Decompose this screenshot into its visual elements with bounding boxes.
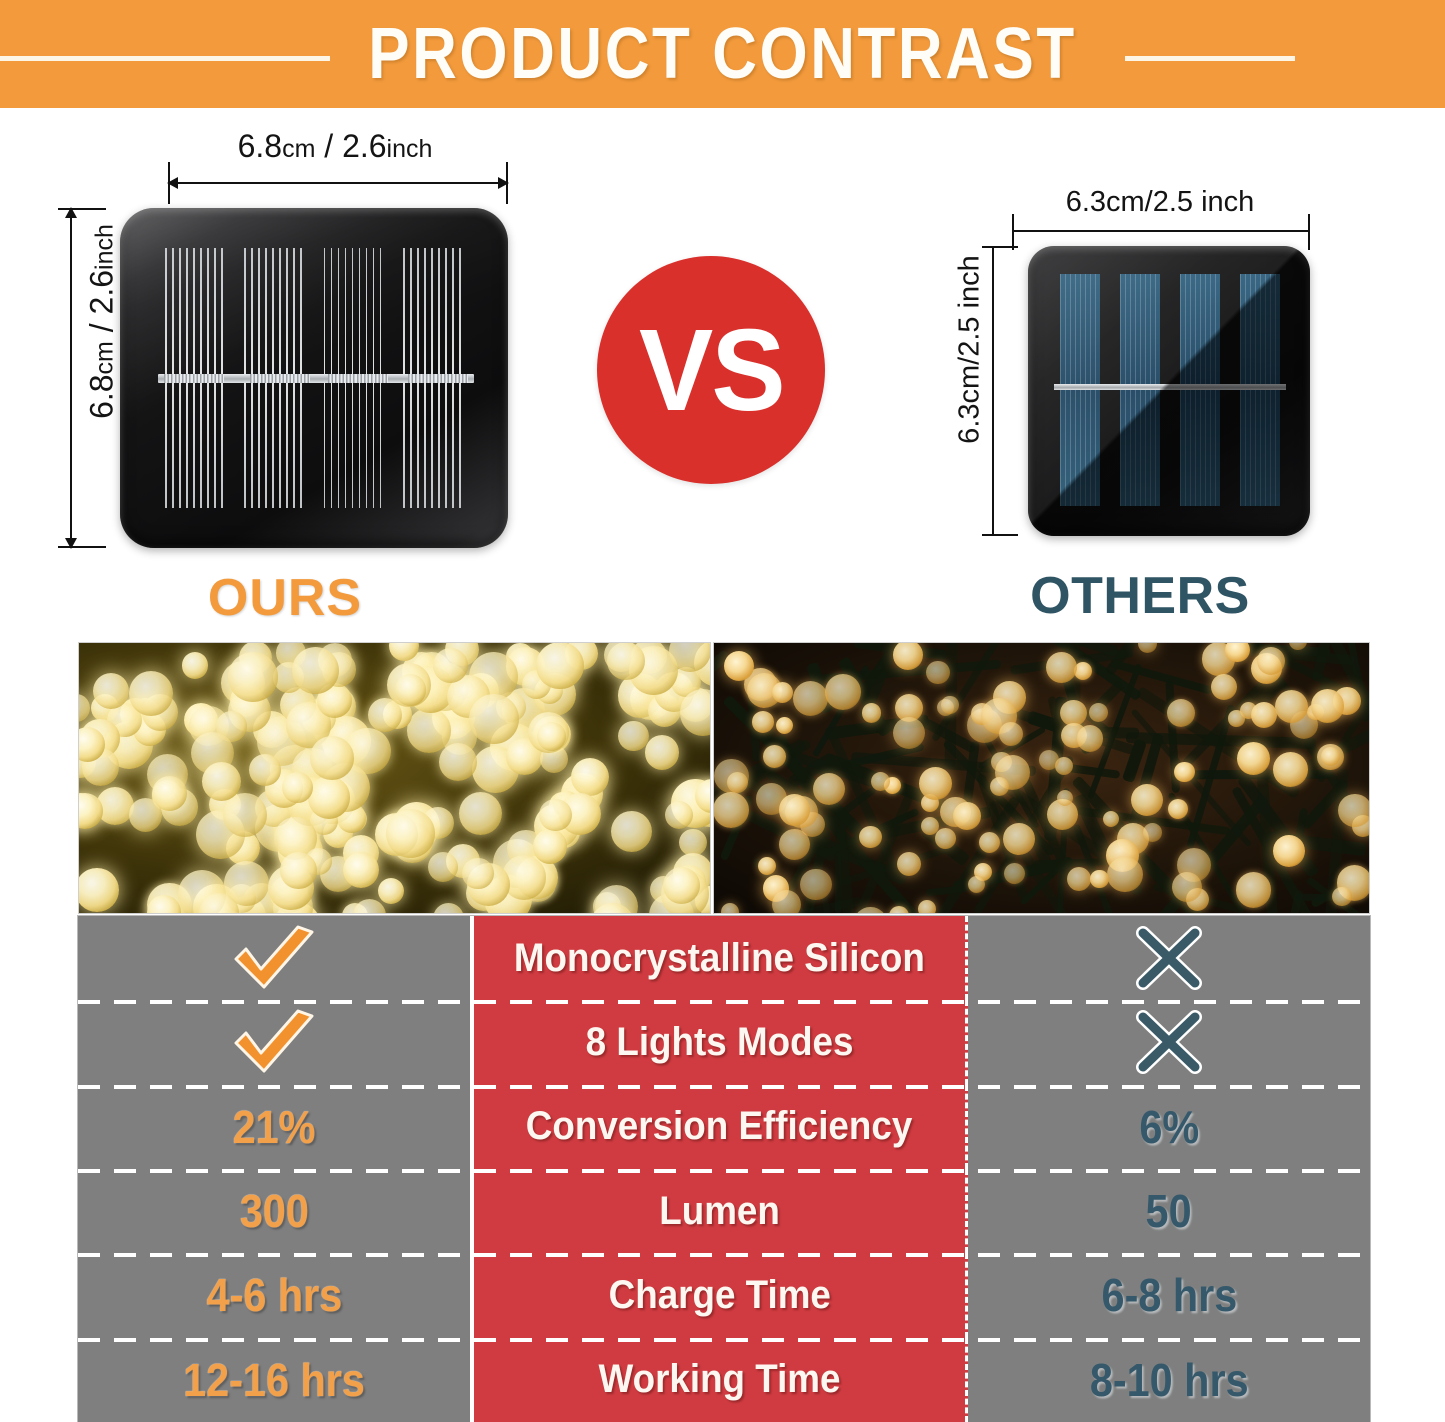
led-bulb	[539, 799, 572, 832]
led-bulb	[378, 878, 404, 904]
check-icon	[228, 1007, 320, 1077]
feature-name-cell: Conversion Efficiency	[470, 1085, 968, 1169]
others-label: OTHERS	[930, 566, 1350, 626]
led-bulb	[129, 671, 173, 715]
led-bulb	[953, 802, 981, 830]
led-bulb	[862, 703, 882, 723]
others-height-dimension-label: 6.3cm/2.5 inch	[954, 200, 987, 500]
ours-value-text: 4-6 hrs	[206, 1268, 342, 1322]
led-bulb	[793, 681, 828, 716]
table-row: Monocrystalline Silicon	[78, 916, 1370, 1000]
others-value-text: 50	[1146, 1184, 1192, 1238]
led-bulb	[607, 642, 645, 680]
led-bulb	[1172, 872, 1202, 902]
ours-value-cell	[78, 916, 470, 1000]
ours-label: OURS	[50, 568, 520, 628]
led-bulb	[1174, 762, 1195, 783]
others-solar-panel-image	[1028, 246, 1310, 536]
ours-value-cell: 4-6 hrs	[78, 1253, 470, 1337]
led-bulb	[1338, 794, 1370, 828]
led-bulb	[1039, 750, 1059, 770]
others-width-tick-left	[1012, 214, 1014, 250]
led-bulb	[469, 694, 519, 744]
led-bulb	[893, 717, 925, 749]
others-value-cell: 6-8 hrs	[968, 1253, 1370, 1337]
led-bulb	[871, 772, 890, 791]
led-bulb	[800, 869, 831, 900]
check-icon	[228, 923, 320, 993]
led-bulb	[1103, 811, 1119, 827]
led-bulb	[825, 674, 861, 710]
led-bulb	[386, 809, 435, 858]
ours-value-cell	[78, 1000, 470, 1084]
led-bulb	[763, 745, 786, 768]
led-bulb	[645, 735, 680, 770]
ours-lights-photo	[78, 642, 711, 914]
table-row: 8 Lights Modes	[78, 1000, 1370, 1084]
table-row: 21%Conversion Efficiency6%	[78, 1085, 1370, 1169]
led-bulb	[433, 648, 468, 683]
led-bulb	[1228, 710, 1244, 726]
led-bulb	[1273, 835, 1305, 867]
feature-label: Conversion Efficiency	[526, 1104, 913, 1149]
led-bulb	[1332, 887, 1351, 906]
led-bulb	[724, 651, 754, 681]
ours-panel-block: 6.8cm / 2.6inch 6.8cm / 2.6inch OURS	[50, 128, 520, 628]
led-bulb	[618, 721, 649, 752]
led-bulb	[919, 767, 952, 800]
led-bulb	[1311, 689, 1344, 722]
others-value-cell: 8-10 hrs	[968, 1338, 1370, 1422]
ours-height-dimension-label: 6.8cm / 2.6inch	[84, 152, 121, 492]
led-bulb	[665, 801, 693, 829]
led-bulb	[859, 826, 881, 848]
table-row: 300Lumen50	[78, 1169, 1370, 1253]
others-height-tick-top	[982, 246, 1018, 248]
led-bulb	[182, 652, 209, 679]
led-bulb	[941, 696, 958, 713]
led-bulb	[1046, 652, 1077, 683]
cross-icon	[1133, 925, 1205, 991]
product-contrast-infographic: PRODUCT CONTRAST 6.8cm / 2.6inch 6.8cm /…	[0, 0, 1445, 1422]
ours-busbar	[158, 374, 474, 383]
led-bulb	[407, 708, 452, 753]
cross-icon	[1133, 1009, 1205, 1075]
led-bulb	[926, 661, 949, 684]
ours-value-cell: 300	[78, 1169, 470, 1253]
others-value-text: 8-10 hrs	[1090, 1353, 1249, 1407]
feature-name-cell: Lumen	[470, 1169, 968, 1253]
led-bulb	[1107, 857, 1142, 892]
ours-width-dimension-line	[168, 182, 508, 184]
led-bulb	[282, 772, 313, 803]
led-bulb	[439, 743, 477, 781]
led-bulb	[611, 811, 652, 852]
feature-name-cell: 8 Lights Modes	[470, 1000, 968, 1084]
others-busbar	[1054, 384, 1286, 390]
led-bulb	[1167, 699, 1195, 727]
led-bulb	[1089, 703, 1108, 722]
led-bulb	[536, 642, 583, 689]
feature-name-cell: Working Time	[470, 1338, 968, 1422]
ours-value-text: 12-16 hrs	[183, 1353, 365, 1407]
others-width-tick-right	[1308, 214, 1310, 250]
feature-label: 8 Lights Modes	[586, 1020, 854, 1065]
others-panel-block: 6.3cm/2.5 inch 6.3cm/2.5 inch OTHERS	[930, 168, 1350, 628]
led-bulb	[280, 852, 317, 889]
header-banner: PRODUCT CONTRAST	[0, 0, 1445, 108]
led-bulb	[1237, 742, 1270, 775]
led-bulb	[1273, 752, 1308, 787]
feature-label: Monocrystalline Silicon	[514, 936, 925, 981]
led-bulb	[1090, 870, 1109, 889]
led-bulb	[713, 792, 749, 828]
led-bulb	[462, 858, 493, 889]
ours-value-text: 300	[239, 1184, 308, 1238]
led-bulb	[752, 711, 774, 733]
panel-comparison-area: 6.8cm / 2.6inch 6.8cm / 2.6inch OURS	[0, 108, 1445, 628]
others-height-tick-bottom	[982, 534, 1018, 536]
others-lights-photo	[713, 642, 1370, 914]
led-bulb	[1211, 674, 1237, 700]
feature-name-cell: Charge Time	[470, 1253, 968, 1337]
others-value-cell	[968, 1000, 1370, 1084]
led-bulb	[395, 674, 427, 706]
others-width-dimension-label: 6.3cm/2.5 inch	[990, 186, 1330, 219]
ours-value-cell: 12-16 hrs	[78, 1338, 470, 1422]
led-bulb	[663, 867, 700, 904]
feature-name-cell: Monocrystalline Silicon	[470, 916, 968, 1000]
ours-value-cell: 21%	[78, 1085, 470, 1169]
product-photos	[78, 642, 1370, 914]
led-bulb	[779, 829, 810, 860]
led-bulb	[1077, 725, 1103, 751]
table-row: 4-6 hrsCharge Time6-8 hrs	[78, 1253, 1370, 1337]
led-bulb	[343, 852, 379, 888]
led-bulb	[93, 673, 129, 709]
led-bulb	[1143, 823, 1162, 842]
others-value-cell: 50	[968, 1169, 1370, 1253]
vs-badge: VS	[597, 256, 825, 484]
led-bulb	[1067, 867, 1091, 891]
led-bulb	[999, 722, 1023, 746]
vs-label: VS	[639, 312, 784, 428]
led-bulb	[310, 736, 353, 779]
feature-label: Lumen	[659, 1189, 780, 1234]
others-value-text: 6%	[1139, 1100, 1199, 1154]
led-bulb	[1251, 702, 1277, 728]
others-height-dimension-line	[992, 246, 994, 536]
others-width-dimension-line	[1012, 230, 1310, 232]
led-bulb	[935, 828, 956, 849]
ours-value-text: 21%	[233, 1100, 316, 1154]
ours-width-dimension-label: 6.8cm / 2.6inch	[155, 128, 515, 165]
led-bulb	[893, 642, 923, 670]
led-bulb	[1236, 872, 1272, 908]
led-bulb	[918, 900, 936, 914]
led-bulb	[1003, 823, 1035, 855]
page-title: PRODUCT CONTRAST	[101, 0, 1344, 108]
led-bulb	[533, 829, 567, 863]
others-value-cell: 6%	[968, 1085, 1370, 1169]
led-bulb	[428, 852, 458, 882]
table-row: 12-16 hrsWorking Time8-10 hrs	[78, 1338, 1370, 1422]
led-bulb	[772, 890, 802, 914]
led-bulb	[727, 772, 748, 793]
led-bulb	[459, 792, 502, 835]
others-solar-cells	[1060, 274, 1280, 506]
led-bulb	[308, 776, 351, 819]
led-bulb	[1057, 790, 1073, 806]
comparison-table: Monocrystalline Silicon8 Lights Modes21%…	[78, 916, 1370, 1422]
others-value-text: 6-8 hrs	[1101, 1268, 1237, 1322]
ours-height-dimension-line	[70, 208, 72, 548]
led-bulb	[1004, 863, 1025, 884]
led-bulb	[202, 762, 241, 801]
led-bulb	[292, 647, 339, 694]
ours-solar-panel-image	[120, 208, 508, 548]
led-bulb	[249, 754, 281, 786]
others-value-cell	[968, 916, 1370, 1000]
led-bulb	[228, 652, 278, 702]
led-bulb	[1131, 784, 1163, 816]
led-bulb	[78, 868, 119, 912]
feature-label: Charge Time	[608, 1273, 830, 1318]
feature-label: Working Time	[599, 1357, 841, 1402]
led-bulb	[571, 758, 609, 796]
led-bulb	[129, 798, 162, 831]
